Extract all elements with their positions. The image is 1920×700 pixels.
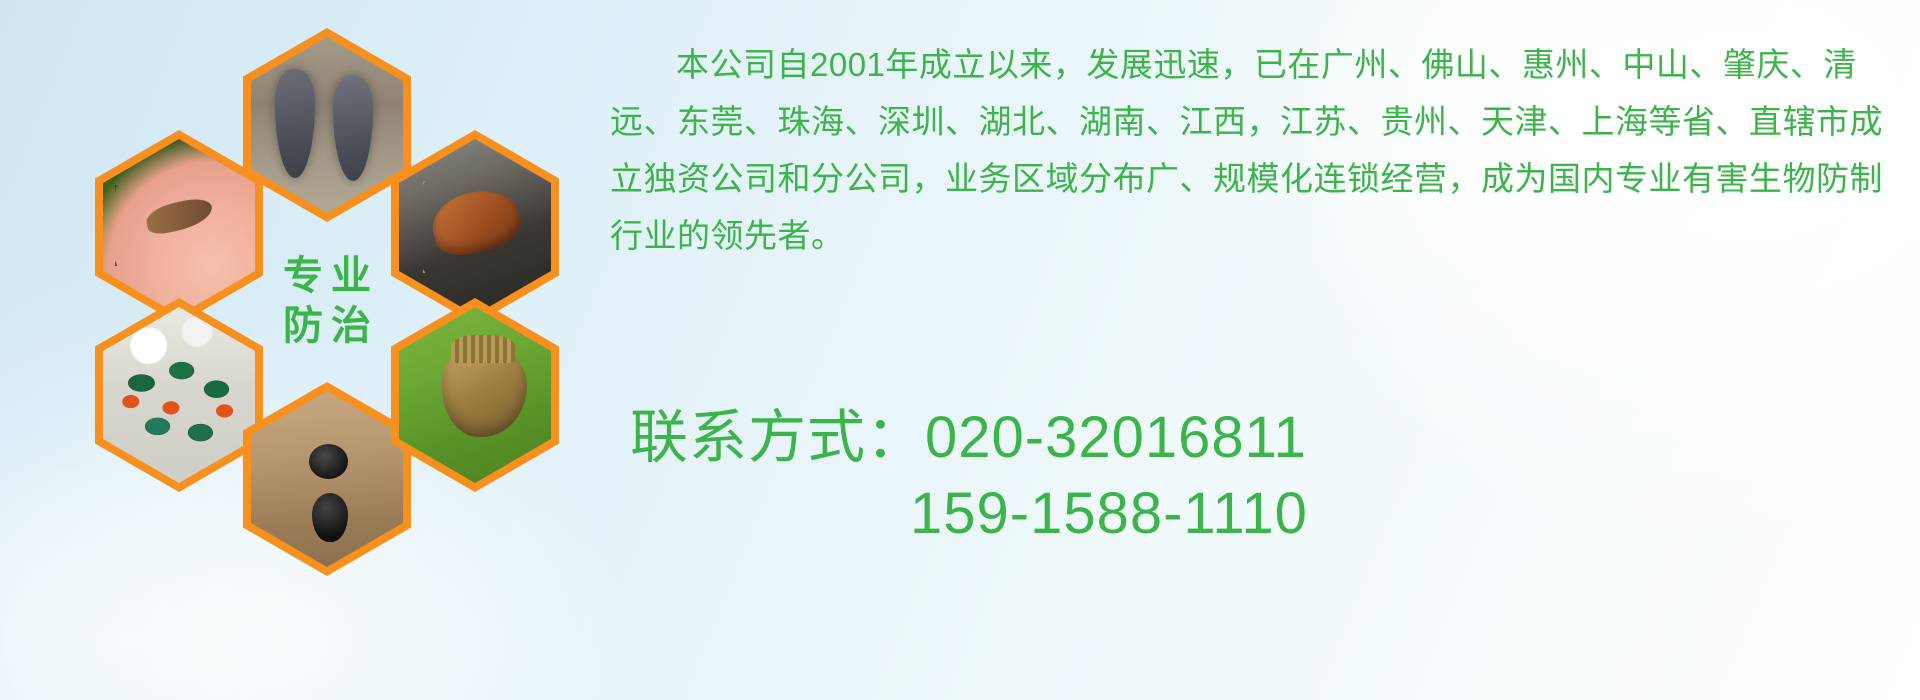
mosquito-icon xyxy=(103,139,255,315)
ant-icon xyxy=(251,391,403,567)
cockroach-icon xyxy=(399,139,551,315)
company-intro-paragraph: 本公司自2001年成立以来，发展迅速，已在广州、佛山、惠州、中山、肇庆、清远、东… xyxy=(610,36,1910,264)
ant-photo xyxy=(251,391,403,567)
honeycomb-center-logo: 专业 防治 xyxy=(243,204,411,398)
contact-line-secondary[interactable]: 159-1588-1110 xyxy=(610,476,1910,552)
cockroach-photo xyxy=(399,139,551,315)
hex-cell-cockroach[interactable] xyxy=(391,130,559,324)
mosquito-photo xyxy=(103,139,255,315)
contact-line-primary[interactable]: 联系方式：020-32016811 xyxy=(610,400,1910,476)
content-column: 本公司自2001年成立以来，发展迅速，已在广州、佛山、惠州、中山、肇庆、清远、东… xyxy=(610,0,1920,700)
hex-cell-flies[interactable] xyxy=(95,298,263,492)
hex-cell-ant[interactable] xyxy=(243,382,411,576)
hex-cell-mosquito[interactable] xyxy=(95,130,263,324)
pest-control-banner: 专业 防治 本公司自2001年成立以来，发展迅速，已在广州、佛山、惠州、中山、肇… xyxy=(0,0,1920,700)
rats-photo xyxy=(251,37,403,213)
fly-icon xyxy=(103,307,255,483)
honeycomb-gallery: 专业 防治 xyxy=(95,8,595,558)
hex-cell-rats[interactable] xyxy=(243,28,411,222)
contact-block: 联系方式：020-32016811 159-1588-1110 xyxy=(610,400,1910,552)
hex-cell-stinkbug[interactable] xyxy=(391,298,559,492)
stinkbug-photo xyxy=(399,307,551,483)
logo-line-2: 防治 xyxy=(275,304,379,348)
stinkbug-icon xyxy=(399,307,551,483)
flies-photo xyxy=(103,307,255,483)
rat-icon xyxy=(251,37,403,213)
logo-line-1: 专业 xyxy=(275,254,379,298)
